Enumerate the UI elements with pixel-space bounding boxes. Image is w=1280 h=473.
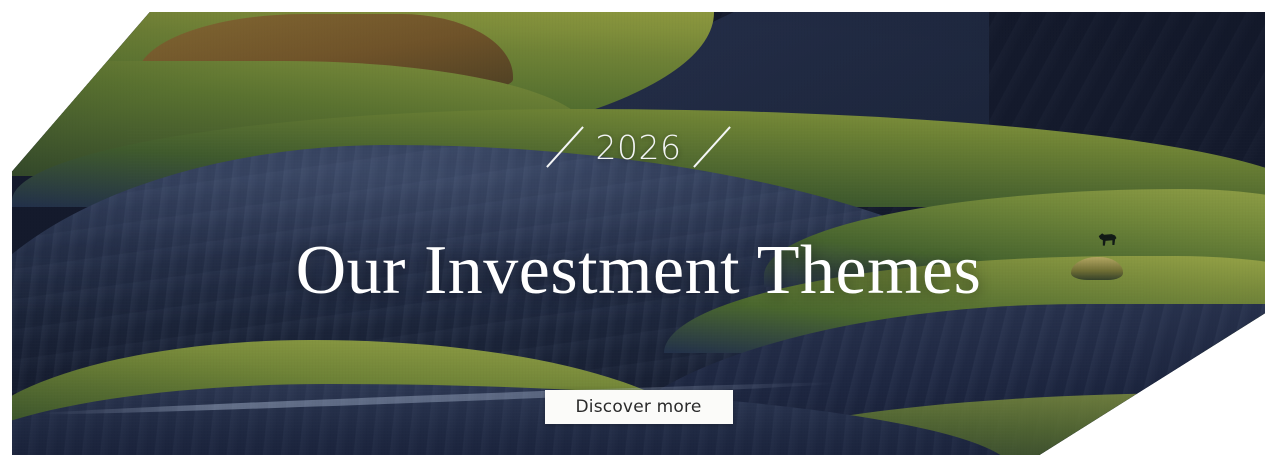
slash-left-icon: [546, 126, 584, 167]
hero-banner: 2026 Our Investment Themes Discover more: [12, 12, 1265, 455]
year-row: 2026: [12, 120, 1265, 174]
page-title: Our Investment Themes: [12, 235, 1265, 308]
year-label: 2026: [596, 131, 682, 164]
slash-right-icon: [694, 126, 732, 167]
banner-stage: 2026 Our Investment Themes Discover more: [0, 0, 1280, 473]
discover-more-button[interactable]: Discover more: [545, 390, 733, 424]
